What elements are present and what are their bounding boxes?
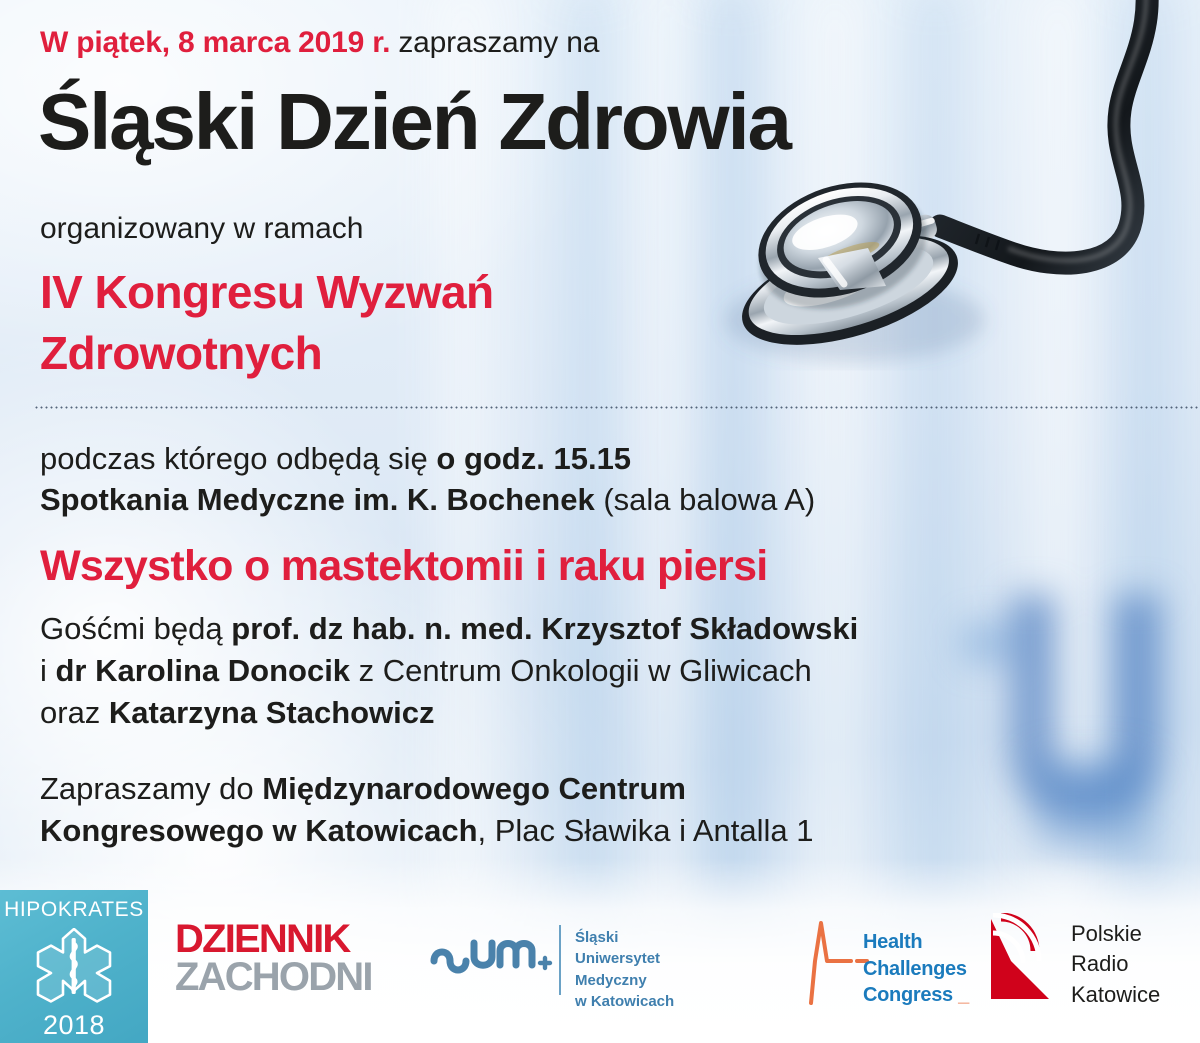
congress-line-2: Zdrowotnych — [40, 323, 494, 384]
hcc-line-2: Challenges — [863, 956, 969, 983]
meeting-room: (sala balowa A) — [595, 482, 816, 517]
congress-name: IV Kongresu Wyzwań Zdrowotnych — [40, 262, 494, 384]
sum-divider-rule — [559, 925, 561, 995]
kicker-rest: zapraszamy na — [390, 26, 599, 59]
venue-name-1: Międzynarodowego Centrum — [262, 771, 686, 806]
sum-wordmark-icon — [428, 921, 556, 975]
event-date: W piątek, 8 marca 2019 r. — [40, 26, 390, 59]
hcc-name: Health Challenges Congress _ — [863, 929, 969, 1009]
guest-3-prefix: oraz — [40, 695, 109, 730]
sum-line-3: Medyczny — [575, 970, 674, 991]
hcc-congress-word: Congress — [863, 984, 953, 1006]
guest-line-1: Gośćmi będą prof. dz hab. n. med. Krzysz… — [40, 608, 858, 650]
meeting-time-prefix: podczas którego odbędą się — [40, 441, 436, 476]
meeting-info: podczas którego odbędą się o godz. 15.15… — [40, 438, 815, 520]
guests-info: Gośćmi będą prof. dz hab. n. med. Krzysz… — [40, 608, 858, 734]
sum-line-1: Śląski — [575, 927, 674, 948]
venue-name-2: Kongresowego w Katowicach — [40, 813, 478, 848]
sponsor-logo-bar: HIPOKRATES 2018 DZIENNIK ZACHODNI — [0, 873, 1200, 1043]
venue-prefix: Zapraszamy do — [40, 771, 262, 806]
guest-name-1: prof. dz hab. n. med. Krzysztof Składows… — [231, 611, 858, 646]
guest-2-prefix: i — [40, 653, 56, 688]
logo-dziennik-zachodni[interactable]: DZIENNIK ZACHODNI — [175, 921, 372, 996]
hipokrates-award-badge: HIPOKRATES 2018 — [0, 890, 148, 1043]
prk-line-1: Polskie — [1071, 919, 1160, 949]
venue-address: , Plac Sławika i Antalla 1 — [478, 813, 814, 848]
poster-canvas: W piątek, 8 marca 2019 r. zapraszamy na … — [0, 0, 1200, 1043]
guests-prefix: Gośćmi będą — [40, 611, 231, 646]
guest-2-affiliation: z Centrum Onkologii w Gliwicach — [350, 653, 812, 688]
meeting-name-line: Spotkania Medyczne im. K. Bochenek (sala… — [40, 479, 815, 520]
sum-fullname: Śląski Uniwersytet Medyczny w Katowicach — [575, 927, 674, 1012]
logo-slaski-uniwersytet-medyczny[interactable]: Śląski Uniwersytet Medyczny w Katowicach — [428, 921, 698, 1003]
logo-health-challenges-congress[interactable]: Health Challenges Congress _ — [805, 915, 985, 1007]
meeting-time-line: podczas którego odbędą się o godz. 15.15 — [40, 438, 815, 479]
zachodni-word: ZACHODNI — [175, 959, 372, 997]
guest-name-3: Katarzyna Stachowicz — [109, 695, 435, 730]
sum-line-4: w Katowicach — [575, 991, 674, 1012]
logo-polskie-radio-katowice[interactable]: Polskie Radio Katowice — [983, 913, 1183, 1009]
sum-line-2: Uniwersytet — [575, 948, 674, 969]
page-title: Śląski Dzień Zdrowia — [38, 82, 790, 162]
organized-label: organizowany w ramach — [40, 212, 363, 246]
star-of-life-asclepius-icon — [20, 928, 128, 1004]
event-date-kicker: W piątek, 8 marca 2019 r. zapraszamy na — [40, 26, 599, 60]
congress-line-1: IV Kongresu Wyzwań — [40, 262, 494, 323]
venue-info: Zapraszamy do Międzynarodowego Centrum K… — [40, 768, 814, 852]
meeting-name: Spotkania Medyczne im. K. Bochenek — [40, 482, 595, 517]
hipokrates-label: HIPOKRATES — [0, 898, 148, 922]
guest-line-2: i dr Karolina Donocik z Centrum Onkologi… — [40, 650, 858, 692]
venue-line-2: Kongresowego w Katowicach, Plac Sławika … — [40, 810, 814, 852]
guest-line-3: oraz Katarzyna Stachowicz — [40, 692, 858, 734]
radio-waves-k-icon — [983, 913, 1063, 1005]
dotted-divider — [34, 406, 1200, 409]
hipokrates-year: 2018 — [0, 1010, 148, 1041]
topic-headline: Wszystko o mastektomii i raku piersi — [40, 542, 768, 591]
dziennik-word: DZIENNIK — [175, 921, 372, 959]
guest-name-2: dr Karolina Donocik — [56, 653, 351, 688]
hcc-dash: _ — [953, 984, 969, 1006]
hcc-line-3: Congress _ — [863, 982, 969, 1009]
prk-line-2: Radio — [1071, 949, 1160, 979]
hcc-line-1: Health — [863, 929, 969, 956]
prk-line-3: Katowice — [1071, 980, 1160, 1010]
meeting-time: o godz. 15.15 — [436, 441, 631, 476]
prk-name: Polskie Radio Katowice — [1071, 919, 1160, 1010]
venue-line-1: Zapraszamy do Międzynarodowego Centrum — [40, 768, 814, 810]
